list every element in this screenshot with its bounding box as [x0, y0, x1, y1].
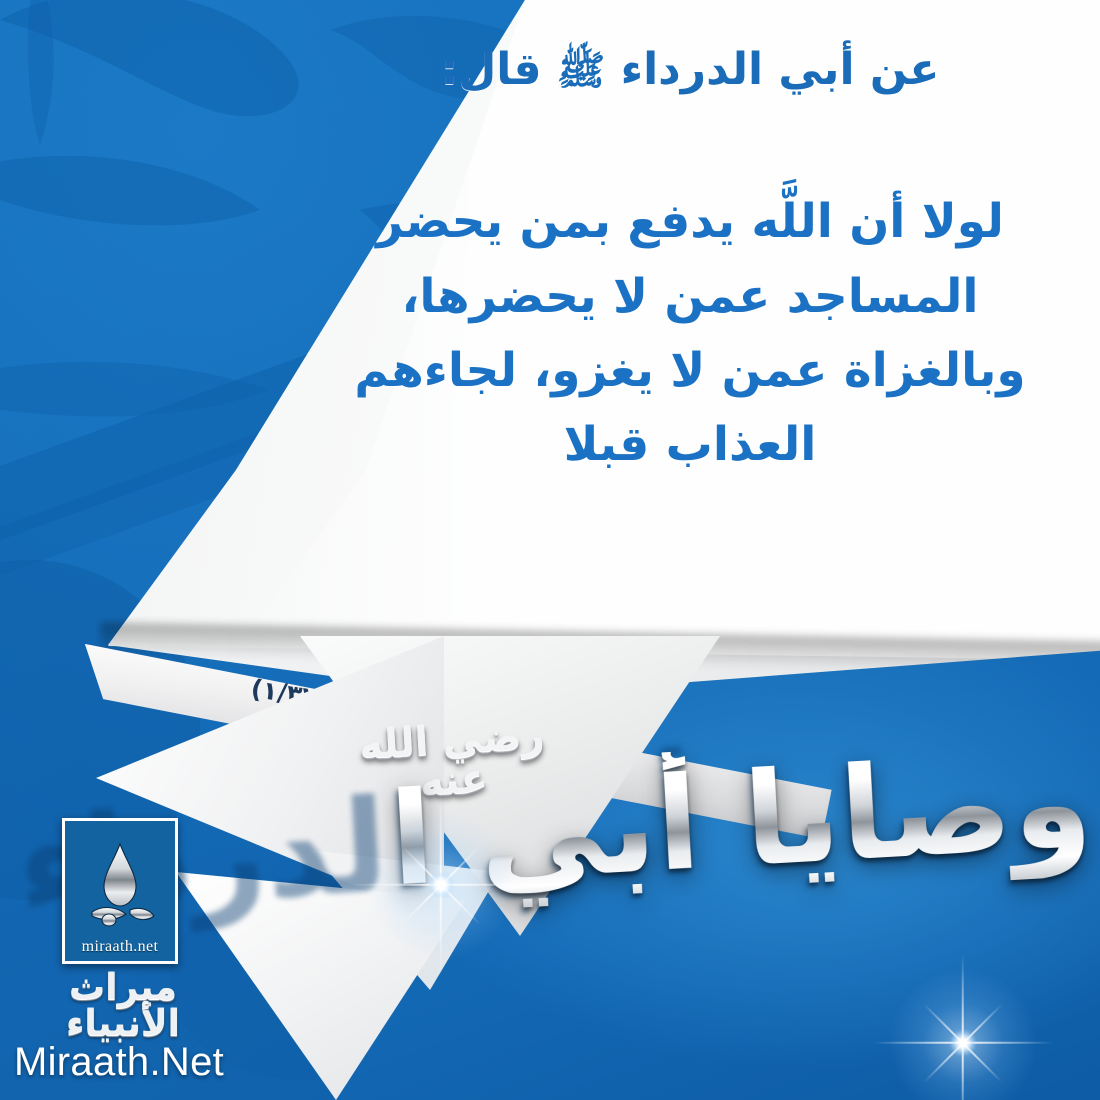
- narration-prefix: عن أبي الدرداء: [621, 44, 940, 95]
- miraath-calligraphy-icon: [78, 840, 162, 936]
- hadith-line-3: وبالغزاة عمن لا يغزو، لجاءهم: [300, 334, 1080, 408]
- calligraphy-title-group: رضي الله عنه وصايا أبي الدرداء وصايا أبي…: [385, 681, 1100, 1080]
- poster-canvas: عن أبي الدرداء ﷺ قال: لولا أن اللَّه يدف…: [0, 0, 1100, 1100]
- narration-line: عن أبي الدرداء ﷺ قال:: [300, 40, 1080, 99]
- radiyallahu-anhu-symbol: ﷺ: [557, 48, 605, 94]
- logo-url-label: miraath.net: [82, 938, 159, 956]
- brand-english-wordmark: Miraath.Net: [14, 1040, 234, 1085]
- miraath-logo[interactable]: miraath.net: [62, 818, 178, 964]
- brand-arabic-wordmark: ميراث الأنبياء: [18, 970, 228, 1042]
- hadith-line-2: المساجد عمن لا يحضرها،: [300, 260, 1080, 334]
- hadith-text-block: عن أبي الدرداء ﷺ قال: لولا أن اللَّه يدف…: [300, 40, 1080, 482]
- hadith-line-1: لولا أن اللَّه يدفع بمن يحضر: [300, 185, 1080, 259]
- narration-suffix: قال:: [440, 44, 541, 95]
- hadith-line-4: العذاب قبلا: [300, 408, 1080, 482]
- hadith-body: لولا أن اللَّه يدفع بمن يحضر المساجد عمن…: [300, 185, 1080, 482]
